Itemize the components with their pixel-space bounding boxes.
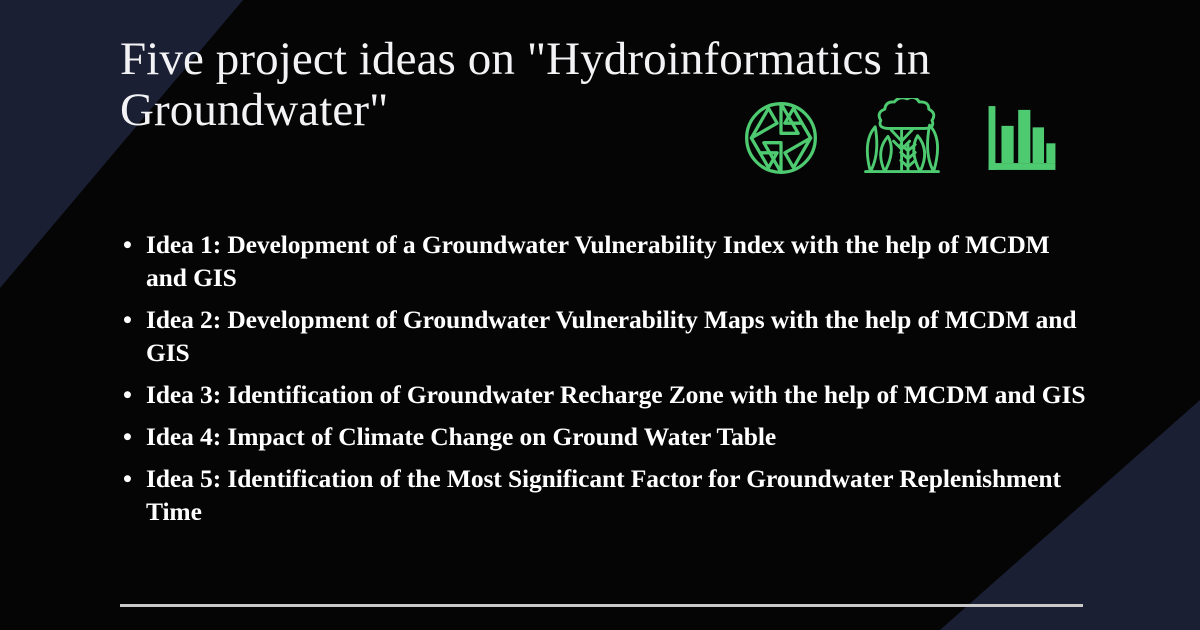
bullet-glyph: • (123, 228, 132, 261)
list-item: • Idea 3: Identification of Groundwater … (120, 378, 1090, 411)
presentation-slide: Five project ideas on "Hydroinformatics … (0, 0, 1200, 630)
list-item-text: Idea 1: Development of a Groundwater Vul… (146, 230, 1050, 292)
bullet-glyph: • (123, 378, 132, 411)
list-item-text: Idea 2: Development of Groundwater Vulne… (146, 305, 1076, 367)
list-item: • Idea 5: Identification of the Most Sig… (120, 462, 1090, 528)
bullet-glyph: • (123, 462, 132, 495)
icon-cluster (742, 98, 1060, 178)
list-item: • Idea 1: Development of a Groundwater V… (120, 228, 1090, 294)
bottom-divider (120, 604, 1083, 607)
list-item: • Idea 2: Development of Groundwater Vul… (120, 303, 1090, 369)
list-item-text: Idea 3: Identification of Groundwater Re… (146, 380, 1085, 409)
bar-chart-icon (984, 100, 1060, 176)
list-item-text: Idea 5: Identification of the Most Signi… (146, 464, 1061, 526)
bullet-glyph: • (123, 420, 132, 453)
bullet-glyph: • (123, 303, 132, 336)
forest-plants-icon (856, 98, 948, 178)
list-item: • Idea 4: Impact of Climate Change on Gr… (120, 420, 1090, 453)
list-item-text: Idea 4: Impact of Climate Change on Grou… (146, 422, 776, 451)
idea-list: • Idea 1: Development of a Groundwater V… (120, 228, 1090, 537)
aperture-icon (742, 99, 820, 177)
